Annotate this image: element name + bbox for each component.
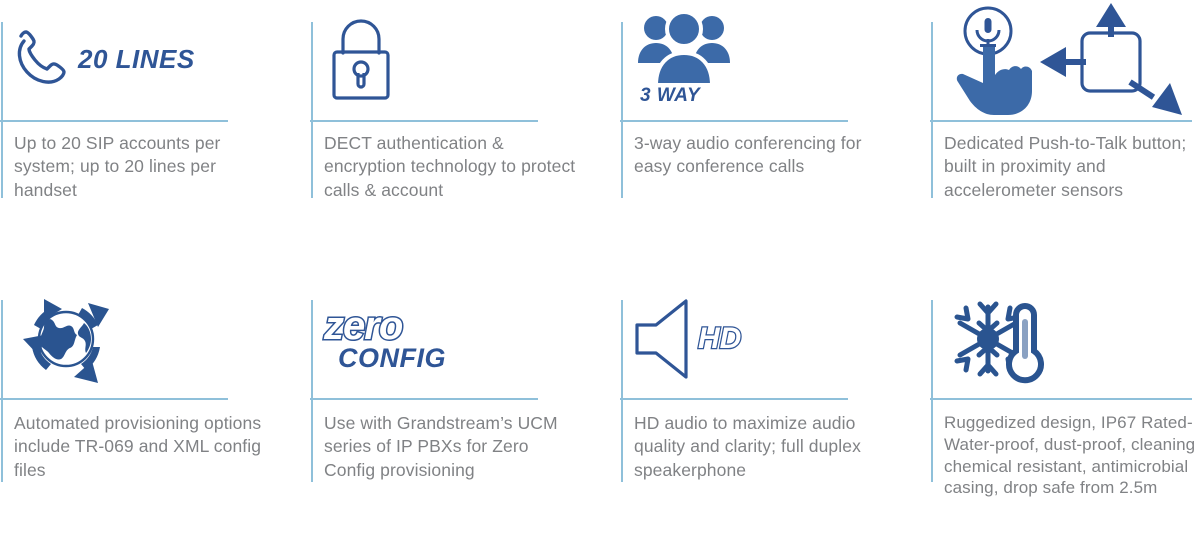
three-way-badge-label: 3 WAY bbox=[640, 85, 700, 107]
phone-handset-icon bbox=[14, 29, 70, 89]
icon-area-provisioning bbox=[14, 284, 118, 394]
vertical-rule bbox=[931, 300, 933, 482]
horizontal-rule bbox=[0, 398, 228, 400]
horizontal-rule bbox=[620, 398, 848, 400]
feature-caption: Automated provisioning options include T… bbox=[14, 412, 266, 482]
lines-badge-label: 20 LINES bbox=[78, 44, 195, 75]
feature-caption: DECT authentication & encryption technol… bbox=[324, 132, 576, 202]
zero-wordmark-primary: zero bbox=[324, 307, 402, 345]
horizontal-rule bbox=[310, 398, 538, 400]
zero-config-wordmark: zero CONFIG bbox=[324, 307, 446, 372]
zero-wordmark-secondary: CONFIG bbox=[338, 345, 446, 372]
push-to-talk-sensors-icon bbox=[944, 3, 1194, 115]
feature-grid: 20 LINES Up to 20 SIP accounts per syste… bbox=[0, 0, 1200, 540]
feature-card-security: DECT authentication & encryption technol… bbox=[310, 0, 620, 280]
feature-card-hd-audio: HD HD audio to maximize audio quality an… bbox=[620, 280, 930, 540]
feature-card-conference: 3 WAY 3-way audio conferencing for easy … bbox=[620, 0, 930, 280]
feature-card-lines: 20 LINES Up to 20 SIP accounts per syste… bbox=[0, 0, 310, 280]
vertical-rule bbox=[621, 22, 623, 198]
feature-caption: HD audio to maximize audio quality and c… bbox=[634, 412, 886, 482]
horizontal-rule bbox=[930, 398, 1192, 400]
padlock-icon bbox=[324, 13, 398, 105]
icon-area-zero-config: zero CONFIG bbox=[324, 284, 446, 394]
vertical-rule bbox=[621, 300, 623, 482]
icon-area-lines: 20 LINES bbox=[14, 4, 195, 114]
feature-caption: Use with Grandstream’s UCM series of IP … bbox=[324, 412, 576, 482]
icon-area-conference: 3 WAY bbox=[634, 4, 734, 114]
three-people-icon bbox=[634, 11, 734, 87]
icon-area-hd-audio: HD bbox=[634, 284, 741, 394]
feature-card-ruggedized: Ruggedized design, IP67 Rated-Water-proo… bbox=[930, 280, 1200, 540]
icon-area-ruggedized bbox=[944, 284, 1048, 394]
snowflake-thermometer-icon bbox=[944, 289, 1048, 389]
globe-sync-icon bbox=[14, 289, 118, 389]
feature-caption: Dedicated Push-to-Talk button; built in … bbox=[944, 132, 1200, 202]
horizontal-rule bbox=[0, 120, 228, 122]
vertical-rule bbox=[311, 300, 313, 482]
feature-caption: Up to 20 SIP accounts per system; up to … bbox=[14, 132, 266, 202]
icon-area-security bbox=[324, 4, 398, 114]
vertical-rule bbox=[1, 22, 3, 198]
feature-caption: 3-way audio conferencing for easy confer… bbox=[634, 132, 886, 179]
hd-badge-label: HD bbox=[698, 322, 741, 356]
icon-area-push-to-talk bbox=[944, 4, 1194, 114]
horizontal-rule bbox=[310, 120, 538, 122]
feature-caption: Ruggedized design, IP67 Rated-Water-proo… bbox=[944, 412, 1200, 499]
horizontal-rule bbox=[620, 120, 848, 122]
feature-card-provisioning: Automated provisioning options include T… bbox=[0, 280, 310, 540]
vertical-rule bbox=[311, 22, 313, 198]
horizontal-rule bbox=[930, 120, 1192, 122]
speaker-hd-icon bbox=[634, 297, 704, 381]
feature-card-push-to-talk: Dedicated Push-to-Talk button; built in … bbox=[930, 0, 1200, 280]
vertical-rule bbox=[931, 22, 933, 198]
feature-card-zero-config: zero CONFIG Use with Grandstream’s UCM s… bbox=[310, 280, 620, 540]
vertical-rule bbox=[1, 300, 3, 482]
